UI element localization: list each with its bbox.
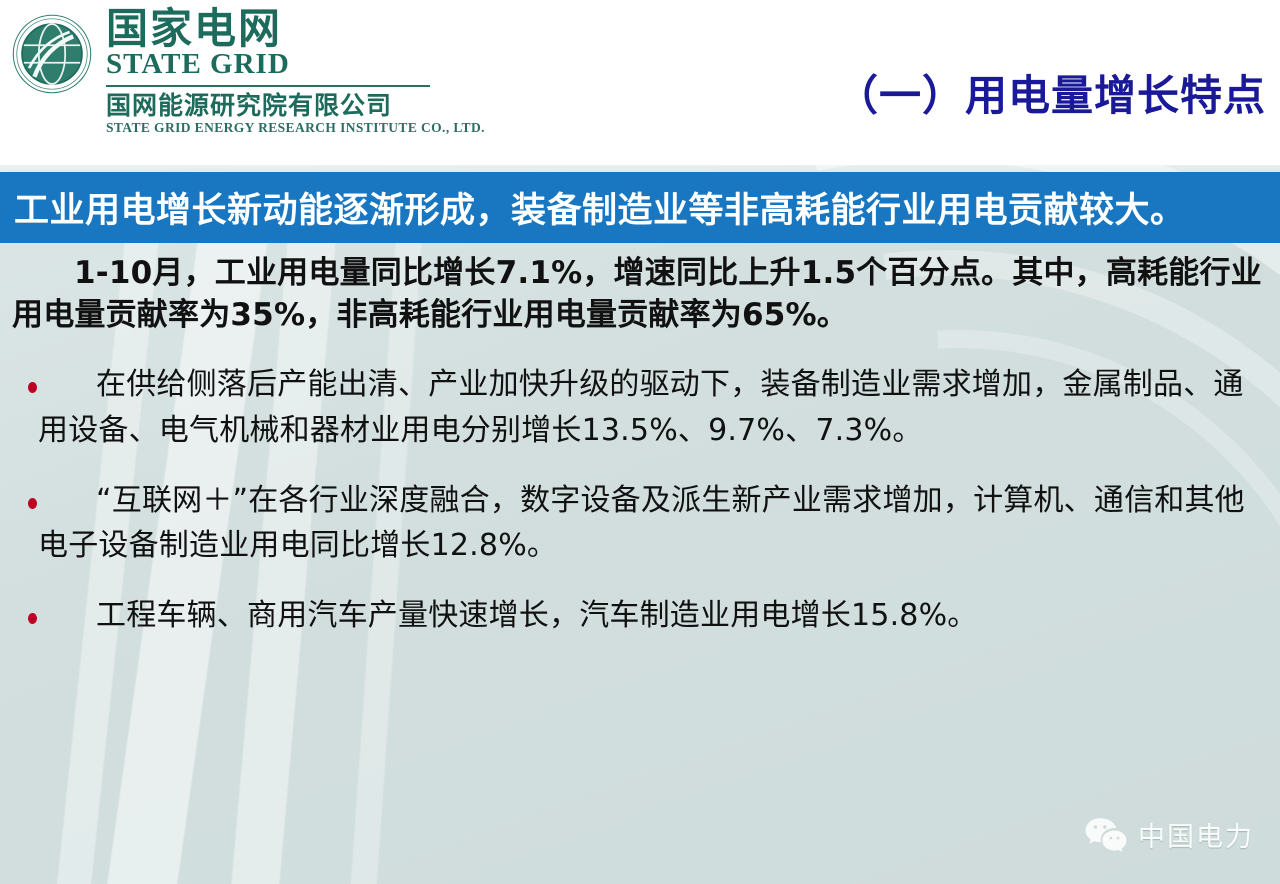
wechat-account-name: 中国电力 [1138, 815, 1254, 854]
lead-paragraph: 1-10月，工业用电量同比增长7.1%，增速同比上升1.5个百分点。其中，高耗能… [0, 252, 1280, 336]
list-item-text: 在供给侧落后产能出清、产业加快升级的驱动下，装备制造业需求增加，金属制品、通用设… [38, 362, 1260, 453]
logo-company-en: STATE GRID [106, 49, 485, 79]
logo-institute-en: STATE GRID ENERGY RESEARCH INSTITUTE CO.… [106, 120, 485, 136]
wechat-watermark: 中国电力 [1084, 815, 1254, 854]
section-banner: 工业用电增长新动能逐渐形成，装备制造业等非高耗能行业用电贡献较大。 [0, 172, 1280, 243]
logo-divider [106, 85, 430, 87]
list-item: 在供给侧落后产能出清、产业加快升级的驱动下，装备制造业需求增加，金属制品、通用设… [0, 362, 1280, 453]
list-item-text: “互联网＋”在各行业深度融合，数字设备及派生新产业需求增加，计算机、通信和其他电… [38, 478, 1260, 569]
logo-institute-cn: 国网能源研究院有限公司 [106, 92, 485, 119]
bullet-dot-icon [28, 613, 37, 624]
page-title: （一）用电量增长特点 [836, 62, 1266, 123]
list-item-text: 工程车辆、商用汽车产量快速增长，汽车制造业用电增长15.8%。 [38, 593, 1260, 639]
slide-content: 1-10月，工业用电量同比增长7.1%，增速同比上升1.5个百分点。其中，高耗能… [0, 252, 1280, 662]
slide-header: 国家电网 STATE GRID 国网能源研究院有限公司 STATE GRID E… [0, 0, 1280, 165]
list-item: “互联网＋”在各行业深度融合，数字设备及派生新产业需求增加，计算机、通信和其他电… [0, 478, 1280, 569]
bullet-dot-icon [28, 382, 37, 393]
bullet-list: 在供给侧落后产能出清、产业加快升级的驱动下，装备制造业需求增加，金属制品、通用设… [0, 362, 1280, 638]
list-item: 工程车辆、商用汽车产量快速增长，汽车制造业用电增长15.8%。 [0, 593, 1280, 639]
slide: 国家电网 STATE GRID 国网能源研究院有限公司 STATE GRID E… [0, 0, 1280, 884]
state-grid-emblem [8, 10, 96, 98]
wechat-icon [1084, 816, 1128, 854]
state-grid-logo: 国家电网 STATE GRID 国网能源研究院有限公司 STATE GRID E… [8, 8, 485, 136]
section-banner-text: 工业用电增长新动能逐渐形成，装备制造业等非高耗能行业用电贡献较大。 [0, 182, 1186, 233]
logo-company-cn: 国家电网 [106, 8, 485, 51]
bullet-dot-icon [28, 498, 37, 509]
